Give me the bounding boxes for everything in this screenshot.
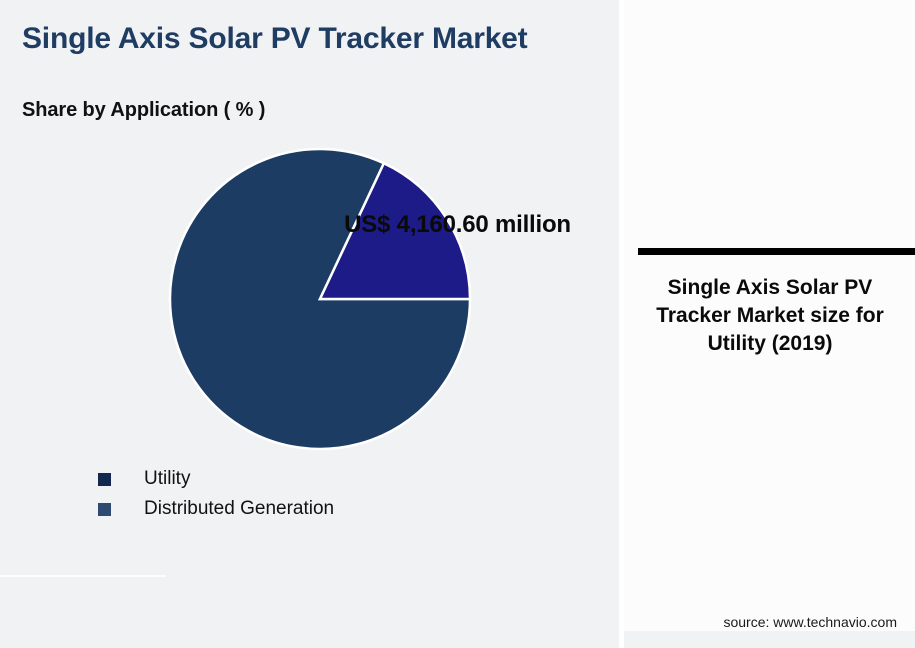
kpi-underline [638,248,915,255]
legend-label: Utility [144,468,190,490]
page-title: Single Axis Solar PV Tracker Market [22,24,542,55]
legend-item-distributed-generation[interactable]: Distributed Generation [98,494,334,524]
legend-label: Distributed Generation [144,498,334,520]
legend-swatch-icon [98,473,111,486]
kpi-value: US$ 4,160.60 million [0,211,915,239]
source-note: source: www.technavio.com [0,614,897,630]
chart-legend: Utility Distributed Generation [98,464,334,524]
divider-line [0,575,166,577]
pie-chart-svg [170,149,470,449]
legend-item-utility[interactable]: Utility [98,464,334,494]
chart-panel: Single Axis Solar PV Tracker Market Shar… [0,0,620,648]
infographic-root: Single Axis Solar PV Tracker Market Shar… [0,0,915,648]
pie-chart [170,149,470,449]
legend-swatch-icon [98,503,111,516]
chart-subtitle: Share by Application ( % ) [22,99,265,122]
kpi-caption: Single Axis Solar PV Tracker Market size… [652,274,888,358]
